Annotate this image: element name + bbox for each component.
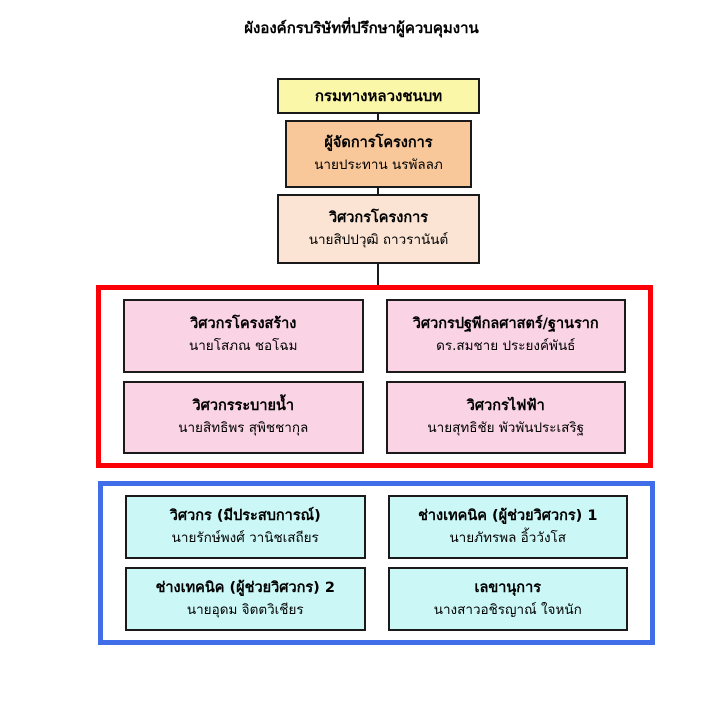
node-drainage-engineer-person: นายสิทธิพร สุพิชชากุล [178, 419, 308, 438]
node-experienced-engineer: วิศวกร (มีประสบการณ์) นายรักษ์พงศ์ วานิช… [125, 495, 366, 559]
org-chart-canvas: ผังองค์กรบริษัทที่ปรึกษาผู้ควบคุมงาน กรม… [0, 0, 723, 714]
node-project-engineer-person: นายสิปปวุฒิ ถาวรานันต์ [309, 230, 449, 250]
node-technician-1-role: ช่างเทคนิค (ผู้ช่วยวิศวกร) 1 [418, 507, 597, 526]
group-design-grid: วิศวกรโครงสร้าง นายโสภณ ชอโฉม วิศวกรปฐพี… [101, 290, 648, 463]
group-design-engineers: วิศวกรโครงสร้าง นายโสภณ ชอโฉม วิศวกรปฐพี… [96, 285, 653, 468]
node-department: กรมทางหลวงชนบท [277, 78, 480, 114]
node-technician-1: ช่างเทคนิค (ผู้ช่วยวิศวกร) 1 นายภัทรพล อ… [388, 495, 629, 559]
node-technician-1-person: นายภัทรพล อิ้ววังโส [449, 529, 566, 548]
node-electrical-engineer-role: วิศวกรไฟฟ้า [467, 397, 545, 416]
node-experienced-engineer-role: วิศวกร (มีประสบการณ์) [170, 507, 321, 526]
node-electrical-engineer: วิศวกรไฟฟ้า นายสุทธิชัย พัวพันประเสริฐ [386, 381, 627, 455]
node-electrical-engineer-person: นายสุทธิชัย พัวพันประเสริฐ [427, 419, 584, 438]
node-geotechnical-engineer-person: ดร.สมชาย ประยงค์พันธ์ [436, 337, 575, 356]
node-technician-2: ช่างเทคนิค (ผู้ช่วยวิศวกร) 2 นายอุดม จิต… [125, 567, 366, 631]
node-drainage-engineer: วิศวกรระบายน้ำ นายสิทธิพร สุพิชชากุล [123, 381, 364, 455]
node-structural-engineer-person: นายโสภณ ชอโฉม [189, 337, 298, 356]
node-technician-2-person: นายอุดม จิตตวิเชียร [187, 601, 304, 620]
connector-project-engineer-to-design-group [377, 263, 379, 287]
node-secretary-role: เลขานุการ [474, 579, 541, 598]
node-drainage-engineer-role: วิศวกรระบายน้ำ [192, 397, 294, 416]
node-secretary-person: นางสาวอชิรญาณ์ ใจหนัก [434, 601, 582, 620]
node-secretary: เลขานุการ นางสาวอชิรญาณ์ ใจหนัก [388, 567, 629, 631]
node-structural-engineer-role: วิศวกรโครงสร้าง [190, 315, 296, 334]
node-project-engineer-role: วิศวกรโครงการ [329, 208, 428, 228]
node-geotechnical-engineer: วิศวกรปฐพีกลศาสตร์/ฐานราก ดร.สมชาย ประยง… [386, 299, 627, 373]
node-geotechnical-engineer-role: วิศวกรปฐพีกลศาสตร์/ฐานราก [413, 315, 599, 334]
group-field-staff: วิศวกร (มีประสบการณ์) นายรักษ์พงศ์ วานิช… [98, 481, 655, 645]
page-title: ผังองค์กรบริษัทที่ปรึกษาผู้ควบคุมงาน [0, 18, 723, 38]
node-project-engineer: วิศวกรโครงการ นายสิปปวุฒิ ถาวรานันต์ [277, 194, 480, 264]
node-project-manager-role: ผู้จัดการโครงการ [324, 133, 432, 153]
group-field-grid: วิศวกร (มีประสบการณ์) นายรักษ์พงศ์ วานิช… [103, 486, 650, 640]
node-structural-engineer: วิศวกรโครงสร้าง นายโสภณ ชอโฉม [123, 299, 364, 373]
node-department-role: กรมทางหลวงชนบท [315, 86, 442, 106]
node-experienced-engineer-person: นายรักษ์พงศ์ วานิชเสถียร [172, 529, 319, 548]
node-technician-2-role: ช่างเทคนิค (ผู้ช่วยวิศวกร) 2 [156, 579, 335, 598]
node-project-manager: ผู้จัดการโครงการ นายประทาน นรพัลลภ [285, 120, 472, 188]
node-project-manager-person: นายประทาน นรพัลลภ [314, 155, 443, 175]
